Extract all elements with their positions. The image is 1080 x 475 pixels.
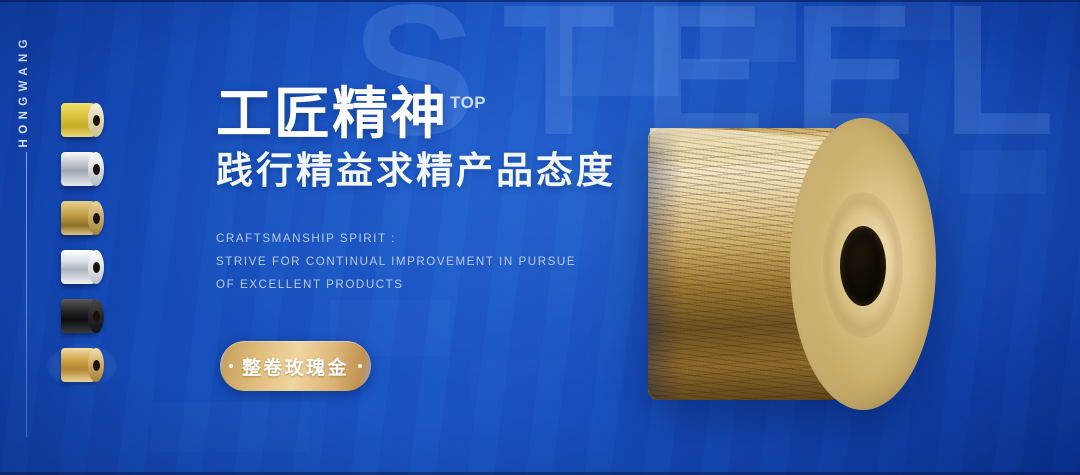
thumbnail-coil-gold[interactable] [52,96,112,144]
headline-superscript-top: TOP [450,93,486,113]
thumbnail-coil-black[interactable] [52,292,112,340]
coil-icon [61,201,103,235]
brand-name: HONGWANG [18,34,30,147]
coil-hole-icon [93,213,100,224]
cta-button-label: 整卷玫瑰金 [242,353,349,380]
coil-icon [61,348,103,382]
banner-stage: STEEL HONGWANG [0,0,1080,475]
coil-icon [61,152,103,186]
headline-row: 工匠精神 TOP [216,84,686,143]
product-thumbnail-list [52,96,116,390]
coil-icon [61,103,103,137]
coil-icon [61,299,103,333]
coil-icon [61,250,103,284]
coil-center-hole [840,226,886,306]
thumbnail-coil-rose-gold-selected[interactable] [52,341,112,389]
headline-secondary: 践行精益求精产品态度 [216,149,686,193]
subtitle-line-2: STRIVE FOR CONTINUAL IMPROVEMENT IN PURS… [216,250,686,273]
bullet-dot-left-icon [229,364,233,368]
brand-rule-line [26,152,27,437]
bullet-dot-right-icon [358,364,362,368]
subtitle-block: CRAFTSMANSHIP SPIRIT : STRIVE FOR CONTIN… [216,227,686,297]
thumbnail-coil-steel[interactable] [52,243,112,291]
thumbnail-coil-silver[interactable] [52,145,112,193]
subtitle-line-3: OF EXCELLENT PRODUCTS [216,273,686,296]
coil-hole-icon [93,311,100,322]
coil-hole-icon [93,115,100,126]
thumbnail-coil-brass[interactable] [52,194,112,242]
headline-primary: 工匠精神 [216,84,448,143]
coil-hole-icon [93,262,100,273]
top-divider [0,0,1080,2]
headline-block: 工匠精神 TOP 践行精益求精产品态度 CRAFTSMANSHIP SPIRIT… [216,84,686,296]
cta-button[interactable]: 整卷玫瑰金 [220,341,371,391]
subtitle-line-1: CRAFTSMANSHIP SPIRIT : [216,227,686,250]
coil-hole-icon [93,360,100,371]
coil-hole-icon [93,164,100,175]
hero-product-coil [648,118,940,410]
